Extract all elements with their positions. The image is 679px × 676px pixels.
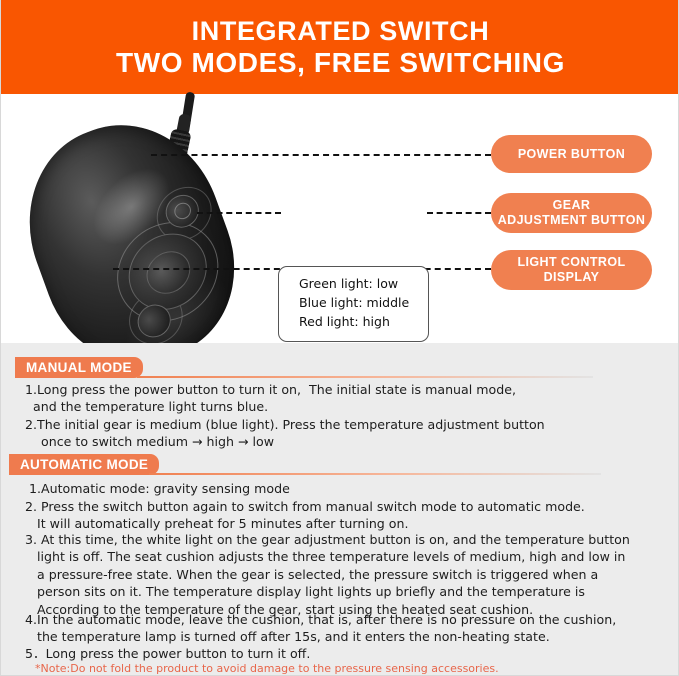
automatic-mode-item-3: 3. At this time, the white light on the … — [25, 531, 630, 618]
callout-gear-label-line1: GEAR — [553, 198, 591, 213]
automatic-mode-note: *Note:Do not fold the product to avoid d… — [35, 662, 499, 676]
automatic-mode-item-5: 5．Long press the power button to turn it… — [25, 645, 310, 662]
callout-light-label-line1: LIGHT CONTROL — [518, 255, 626, 270]
manual-mode-badge: MANUAL MODE — [15, 357, 143, 378]
automatic-mode-item-2: 2. Press the switch button again to swit… — [25, 498, 585, 533]
manual-mode-item-2: 2.The initial gear is medium (blue light… — [25, 416, 545, 451]
automatic-mode-badge: AUTOMATIC MODE — [9, 454, 159, 475]
leader-line-gear-left — [197, 212, 281, 214]
legend-row-blue: Blue light: middle — [299, 293, 428, 312]
callout-gear-label-line2: ADJUSTMENT BUTTON — [498, 213, 646, 228]
callout-gear-adjustment-button[interactable]: GEAR ADJUSTMENT BUTTON — [491, 193, 652, 233]
device-diagram-area: Green light: low Blue light: middle Red … — [1, 94, 679, 343]
header-title-line1: INTEGRATED SWITCH — [192, 16, 490, 47]
leader-line-gear-right — [427, 212, 491, 214]
light-color-legend: Green light: low Blue light: middle Red … — [278, 266, 429, 342]
header-title-line2: TWO MODES, FREE SWITCHING — [116, 47, 565, 78]
automatic-mode-divider — [149, 473, 601, 475]
callout-light-label-line2: DISPLAY — [544, 270, 600, 285]
automatic-mode-item-1: 1.Automatic mode: gravity sensing mode — [29, 480, 290, 497]
manual-mode-item-1: 1.Long press the power button to turn it… — [25, 381, 516, 416]
leader-line-power — [151, 154, 491, 156]
infographic-page: INTEGRATED SWITCH TWO MODES, FREE SWITCH… — [0, 0, 679, 676]
callout-light-control-display[interactable]: LIGHT CONTROL DISPLAY — [491, 250, 652, 290]
legend-row-green: Green light: low — [299, 274, 428, 293]
header-banner: INTEGRATED SWITCH TWO MODES, FREE SWITCH… — [1, 0, 679, 94]
callout-power-label: POWER BUTTON — [518, 147, 625, 162]
callout-power-button[interactable]: POWER BUTTON — [491, 135, 652, 173]
manual-mode-divider — [137, 376, 593, 378]
automatic-mode-item-4: 4.In the automatic mode, leave the cushi… — [25, 611, 616, 646]
legend-row-red: Red light: high — [299, 312, 428, 331]
